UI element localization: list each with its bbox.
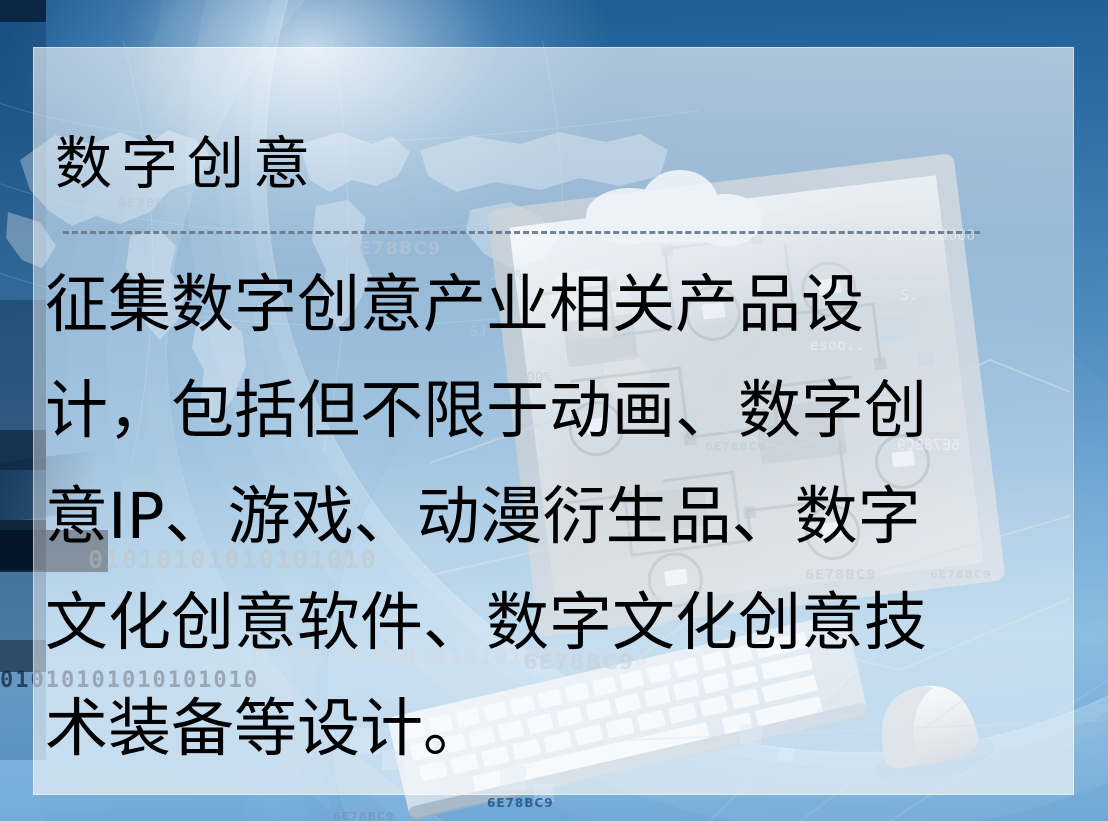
- page-title: 数字创意: [55, 136, 319, 193]
- body-text-line: 征集数字创意产业相关产品设: [45, 252, 1035, 358]
- hex-code-label: 6E78BC9: [487, 796, 554, 810]
- slide-canvas: 000..00000 S. esoo.. 6E78BC9 200% 200% S…: [0, 0, 1108, 821]
- title-divider: [63, 231, 980, 234]
- body-text-block: 征集数字创意产业相关产品设 计，包括但不限于动画、数字创 意IP、游戏、动漫衍生…: [45, 252, 1035, 782]
- body-text-line: 意IP、游戏、动漫衍生品、数字: [45, 464, 1035, 570]
- body-text-line: 文化创意软件、数字文化创意技: [45, 570, 1035, 676]
- hex-code-label: 6E78BC9: [333, 810, 395, 821]
- pixel-accent: [245, 795, 281, 821]
- body-text-line: 计，包括但不限于动画、数字创: [45, 358, 1035, 464]
- body-text-line: 术装备等设计。: [45, 676, 1035, 782]
